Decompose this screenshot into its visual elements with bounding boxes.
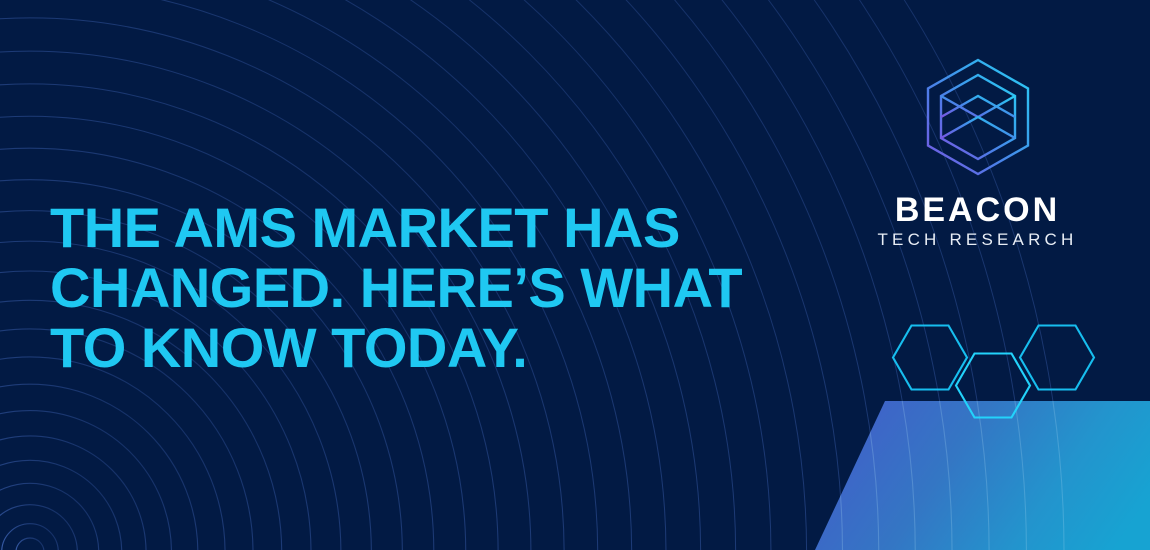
page-title: THE AMS MARKET HAS CHANGED. HERE’S WHAT … bbox=[50, 198, 840, 378]
wave-arc bbox=[0, 436, 146, 550]
wave-arc bbox=[0, 505, 77, 550]
wave-arc bbox=[0, 384, 198, 550]
beacon-logo: BEACON TECH RESEARCH bbox=[870, 55, 1085, 250]
hexagon-left bbox=[893, 326, 967, 390]
marketing-banner: THE AMS MARKET HAS CHANGED. HERE’S WHAT … bbox=[0, 0, 1150, 550]
wave-arc bbox=[0, 411, 171, 550]
beacon-hexagon-cube-mark bbox=[913, 55, 1043, 185]
wave-arc bbox=[0, 460, 122, 550]
gradient-trapezoid bbox=[815, 401, 1150, 550]
wave-arc bbox=[0, 357, 225, 550]
wave-arc bbox=[0, 384, 198, 550]
wave-arc bbox=[0, 436, 146, 550]
wave-arc bbox=[2, 524, 59, 550]
wave-arc bbox=[0, 411, 171, 550]
wave-arc bbox=[0, 483, 99, 550]
wave-arc bbox=[0, 483, 99, 550]
logo-tagline: TECH RESEARCH bbox=[870, 230, 1085, 250]
wave-arc bbox=[16, 538, 44, 550]
logo-wordmark: BEACON bbox=[870, 191, 1085, 229]
wave-arc bbox=[2, 524, 59, 550]
wave-arc bbox=[0, 505, 77, 550]
wave-arc bbox=[0, 357, 225, 550]
wave-arc bbox=[0, 460, 122, 550]
hexagon-right bbox=[1020, 326, 1094, 390]
hexagon-center bbox=[956, 354, 1030, 418]
wave-arc bbox=[16, 538, 44, 550]
